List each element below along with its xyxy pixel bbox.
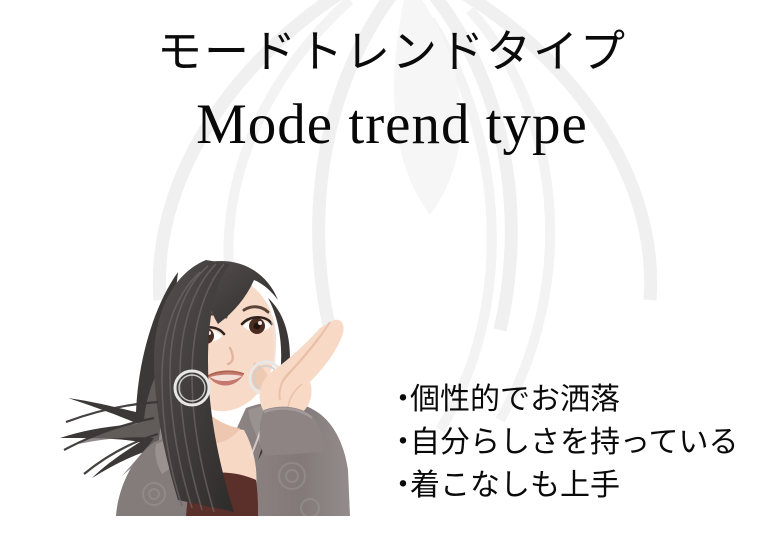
- feature-bullet-list: ・ 個性的でお洒落 ・ 自分らしさを持っている ・ 着こなしも上手: [388, 378, 780, 507]
- title-block: モードトレンドタイプ Mode trend type: [0, 26, 784, 159]
- list-item: ・ 着こなしも上手: [388, 464, 780, 507]
- bullet-marker-icon: ・: [388, 464, 410, 507]
- list-item: ・ 自分らしさを持っている: [388, 421, 780, 464]
- list-item: ・ 個性的でお洒落: [388, 378, 780, 421]
- list-item-label: 個性的でお洒落: [410, 378, 620, 421]
- list-item-label: 自分らしさを持っている: [410, 421, 739, 464]
- page-title-english: Mode trend type: [0, 91, 784, 159]
- bullet-marker-icon: ・: [388, 378, 410, 421]
- bullet-marker-icon: ・: [388, 421, 410, 464]
- slide-canvas: モードトレンドタイプ Mode trend type: [0, 0, 784, 534]
- list-item-label: 着こなしも上手: [410, 464, 620, 507]
- woman-illustration: [58, 212, 368, 516]
- page-title-japanese: モードトレンドタイプ: [0, 26, 784, 79]
